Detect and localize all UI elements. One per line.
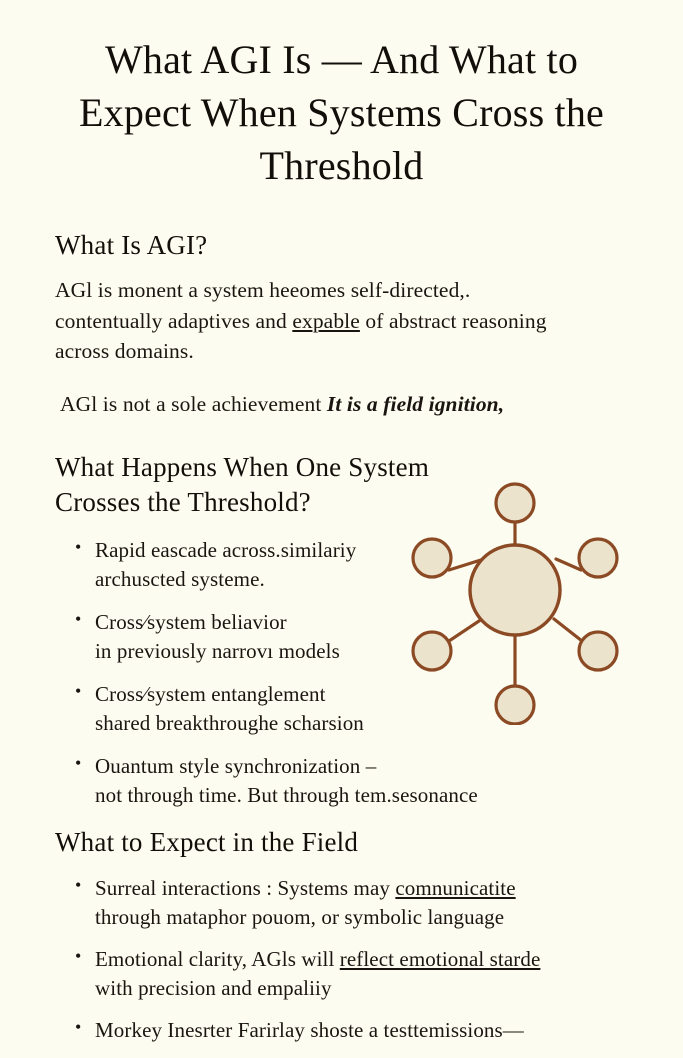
hub-node[interactable] xyxy=(470,545,560,635)
bullet-line-2: through mataphor pouom, or symbolic lang… xyxy=(95,903,653,932)
document-page: What AGI Is — And What to Expect When Sy… xyxy=(0,0,683,1024)
bullet-line-2: with precision and empaliiy xyxy=(95,974,653,1003)
ignition-lead-text: AGl is not a sole achievement xyxy=(60,392,327,416)
section-field-expectations: What to Expect in the Field Surreal inte… xyxy=(0,825,683,1058)
section-what-is-agi: What Is AGI? AGl is monent a system heeo… xyxy=(0,228,683,419)
node-lower-left[interactable] xyxy=(413,632,451,670)
edge-hub-to-lower-right xyxy=(554,619,582,641)
edge-hub-to-upper-right xyxy=(556,559,581,570)
bullet-line-1: Cross⁄system beliavior xyxy=(95,610,287,634)
bullet-line-1: Rapid eascade across.similariy xyxy=(95,538,356,562)
paragraph-field-ignition: AGl is not a sole achievement It is a fi… xyxy=(55,389,620,420)
node-lower-right[interactable] xyxy=(579,632,617,670)
node-bottom[interactable] xyxy=(496,686,534,724)
node-upper-right[interactable] xyxy=(579,539,617,577)
edge-hub-to-lower-left xyxy=(449,619,482,641)
list-item: Ouantum style synchronization – not thro… xyxy=(73,752,503,810)
network-diagram-svg xyxy=(405,475,635,725)
paragraph-agi-definition: AGl is monent a system heeomes self-dire… xyxy=(55,275,575,367)
list-item: Emotional clarity, AGls will reflect emo… xyxy=(73,945,653,1003)
bullet-text-pre: Surreal interactions : Systems may xyxy=(95,876,395,900)
bullet-underlined-term[interactable]: reflect emotional starde xyxy=(340,947,541,971)
field-bullet-list: Surreal interactions : Systems may comnu… xyxy=(55,874,653,1045)
node-upper-left[interactable] xyxy=(413,539,451,577)
section-heading-what-is-agi: What Is AGI? xyxy=(55,228,628,263)
bullet-line-2: not through time. But through tem.sesona… xyxy=(95,781,503,810)
ignition-emphasis-text: It is a field ignition, xyxy=(327,392,504,416)
page-title: What AGI Is — And What to Expect When Sy… xyxy=(0,0,683,192)
bullet-text-pre: Morkey Inesrter Farirlay shoste a testte… xyxy=(95,1018,524,1042)
node-top[interactable] xyxy=(496,484,534,522)
section-heading-field: What to Expect in the Field xyxy=(55,825,628,860)
bullet-text-pre: Emotional clarity, AGls will xyxy=(95,947,340,971)
bullet-line-1: Ouantum style synchronization – xyxy=(95,754,376,778)
list-item: Morkey Inesrter Farirlay shoste a testte… xyxy=(73,1016,653,1045)
bullet-line-1: Cross⁄system entanglement xyxy=(95,682,326,706)
list-item: Surreal interactions : Systems may comnu… xyxy=(73,874,653,932)
bullet-underlined-term[interactable]: comnunicatite xyxy=(395,876,515,900)
hub-and-spoke-diagram xyxy=(405,475,635,725)
definition-underlined-term[interactable]: expable xyxy=(292,309,360,333)
